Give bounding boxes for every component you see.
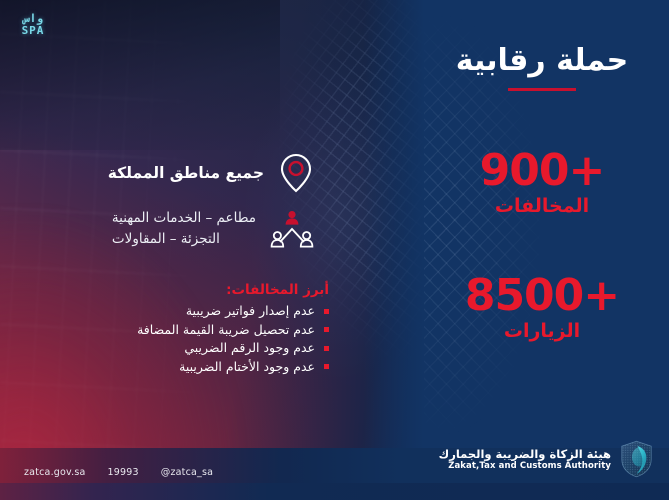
- violations-list: عدم إصدار فواتير ضريبية عدم تحصيل ضريبة …: [137, 305, 329, 373]
- stat-violations: 900+ المخالفات: [437, 148, 647, 217]
- zatca-logo: هيئة الزكاة والضريبة والجمارك Zakat,Tax …: [439, 440, 653, 478]
- footer-phone[interactable]: 19993: [108, 467, 139, 478]
- page-title: حملة رقابية: [437, 44, 647, 79]
- location-pin-icon: [278, 152, 314, 194]
- zatca-name-block: هيئة الزكاة والضريبة والجمارك Zakat,Tax …: [439, 447, 611, 472]
- zatca-name-arabic: هيئة الزكاة والضريبة والجمارك: [439, 447, 611, 461]
- footer-social[interactable]: @zatca_sa: [161, 467, 213, 478]
- stat-violations-number: 900+: [437, 148, 647, 194]
- page-title-block: حملة رقابية: [437, 44, 647, 91]
- violation-text: عدم إصدار فواتير ضريبية: [186, 305, 315, 318]
- bullet-square-icon: [324, 364, 329, 369]
- sectors-texts: مطاعم – الخدمات المهنية التجزئة – المقاو…: [112, 208, 256, 250]
- right-panel-edge-fade: [364, 0, 424, 500]
- coverage-label: جميع مناطق المملكة: [108, 164, 264, 182]
- stat-violations-label: المخالفات: [437, 196, 647, 217]
- bullet-square-icon: [324, 346, 329, 351]
- bullet-square-icon: [324, 327, 329, 332]
- stat-visits: 8500+ الزيارات: [437, 273, 647, 342]
- stat-visits-number: 8500+: [437, 273, 647, 319]
- list-item: عدم وجود الأختام الضريبية: [137, 361, 329, 374]
- violations-block: أبرز المخالفات: عدم إصدار فواتير ضريبية …: [137, 282, 329, 379]
- sector-line-1: مطاعم – الخدمات المهنية: [112, 208, 256, 229]
- spa-logo-latin-label: SPA: [22, 25, 45, 36]
- people-group-icon: [270, 209, 314, 249]
- title-underline-rule: [508, 88, 576, 91]
- sectors-row: مطاعم – الخدمات المهنية التجزئة – المقاو…: [112, 208, 314, 250]
- list-item: عدم تحصيل ضريبة القيمة المضافة: [137, 324, 329, 337]
- zatca-name-english: Zakat,Tax and Customs Authority: [439, 461, 611, 472]
- violation-text: عدم وجود الرقم الضريبي: [184, 342, 315, 355]
- sector-line-2: التجزئة – المقاولات: [112, 229, 256, 250]
- bullet-square-icon: [324, 309, 329, 314]
- coverage-row: جميع مناطق المملكة: [108, 152, 314, 194]
- coverage-texts: جميع مناطق المملكة: [108, 164, 264, 182]
- violation-text: عدم تحصيل ضريبة القيمة المضافة: [137, 324, 315, 337]
- spa-logo: واس SPA: [12, 10, 54, 38]
- list-item: عدم وجود الرقم الضريبي: [137, 342, 329, 355]
- footer-links: zatca.gov.sa 19993 @zatca_sa: [24, 467, 213, 478]
- list-item: عدم إصدار فواتير ضريبية: [137, 305, 329, 318]
- violations-title: أبرز المخالفات:: [137, 282, 329, 298]
- zatca-shield-logo-icon: [620, 440, 653, 478]
- footer-website[interactable]: zatca.gov.sa: [24, 467, 86, 478]
- spa-logo-arabic-label: واس: [23, 13, 43, 24]
- infographic-poster: واس SPA حملة رقابية 900+ المخالفات 8500+…: [0, 0, 669, 500]
- stat-visits-label: الزيارات: [437, 321, 647, 342]
- violation-text: عدم وجود الأختام الضريبية: [179, 361, 315, 374]
